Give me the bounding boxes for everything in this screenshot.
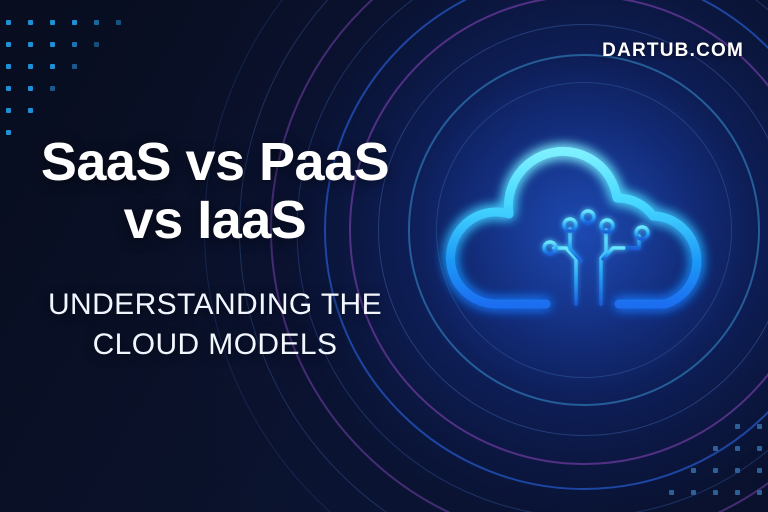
subtitle-line-2: CLOUD MODELS (0, 325, 430, 365)
cloud-circuit-icon (443, 118, 723, 366)
subtitle-line-1: UNDERSTANDING THE (0, 285, 430, 325)
title-line-2: vs IaaS (0, 191, 430, 249)
brand-logo-text: DARTUB.COM (602, 40, 744, 62)
circuit-node (636, 227, 648, 239)
title-line-1: SaaS vs PaaS (0, 133, 430, 191)
page-title: SaaS vs PaaS vs IaaS (0, 133, 430, 250)
page-subtitle: UNDERSTANDING THE CLOUD MODELS (0, 285, 430, 365)
poster-canvas: DARTUB.COM SaaS vs PaaS vs IaaS UNDERSTA… (0, 0, 768, 512)
